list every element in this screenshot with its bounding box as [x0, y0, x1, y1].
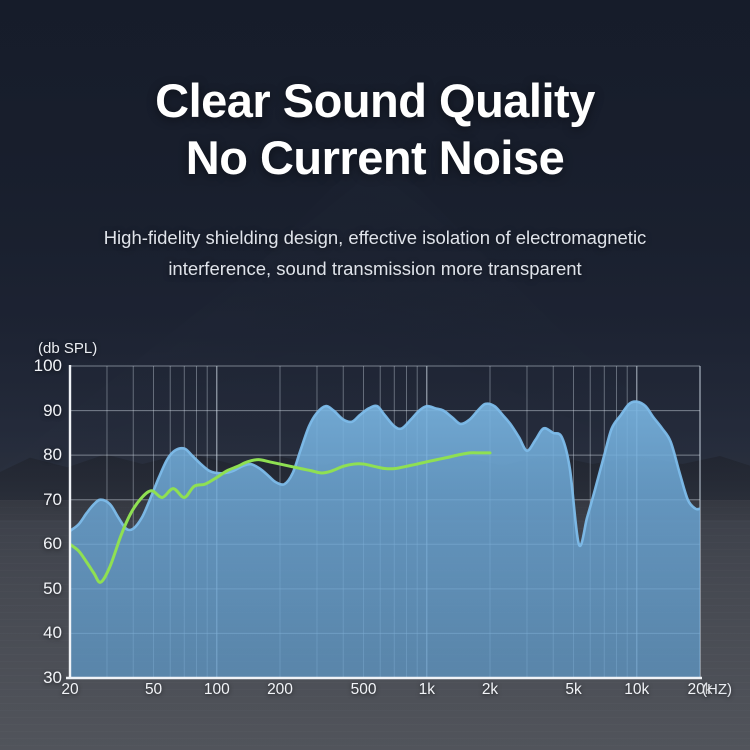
- y-axis-tick-50: 50: [22, 579, 62, 599]
- headline-line-1: Clear Sound Quality: [155, 74, 595, 127]
- x-axis-tick-50: 50: [127, 681, 181, 699]
- page-subtitle: High-fidelity shielding design, effectiv…: [0, 222, 750, 284]
- y-axis-tick-100: 100: [22, 356, 62, 376]
- x-axis-tick-10k: 10k: [610, 681, 664, 699]
- x-axis-tick-20: 20: [43, 681, 97, 699]
- chart-series-area: [70, 402, 700, 678]
- y-axis-tick-80: 80: [22, 445, 62, 465]
- x-axis-tick-1k: 1k: [400, 681, 454, 699]
- subhead-line-1: High-fidelity shielding design, effectiv…: [0, 222, 750, 253]
- y-axis-tick-70: 70: [22, 490, 62, 510]
- y-axis-tick-90: 90: [22, 401, 62, 421]
- x-axis-tick-100: 100: [190, 681, 244, 699]
- subhead-line-2: interference, sound transmission more tr…: [0, 253, 750, 284]
- page-title: Clear Sound Quality No Current Noise: [0, 72, 750, 186]
- y-axis-tick-60: 60: [22, 534, 62, 554]
- x-axis-tick-2k: 2k: [463, 681, 517, 699]
- y-axis-tick-40: 40: [22, 623, 62, 643]
- chart-svg: [0, 330, 750, 730]
- x-axis-tick-200: 200: [253, 681, 307, 699]
- x-axis-unit-label: (HZ): [702, 681, 732, 698]
- x-axis-tick-5k: 5k: [547, 681, 601, 699]
- x-axis-tick-500: 500: [337, 681, 391, 699]
- headline-line-2: No Current Noise: [0, 129, 750, 186]
- promo-page: Clear Sound Quality No Current Noise Hig…: [0, 0, 750, 750]
- frequency-response-chart: [0, 330, 750, 730]
